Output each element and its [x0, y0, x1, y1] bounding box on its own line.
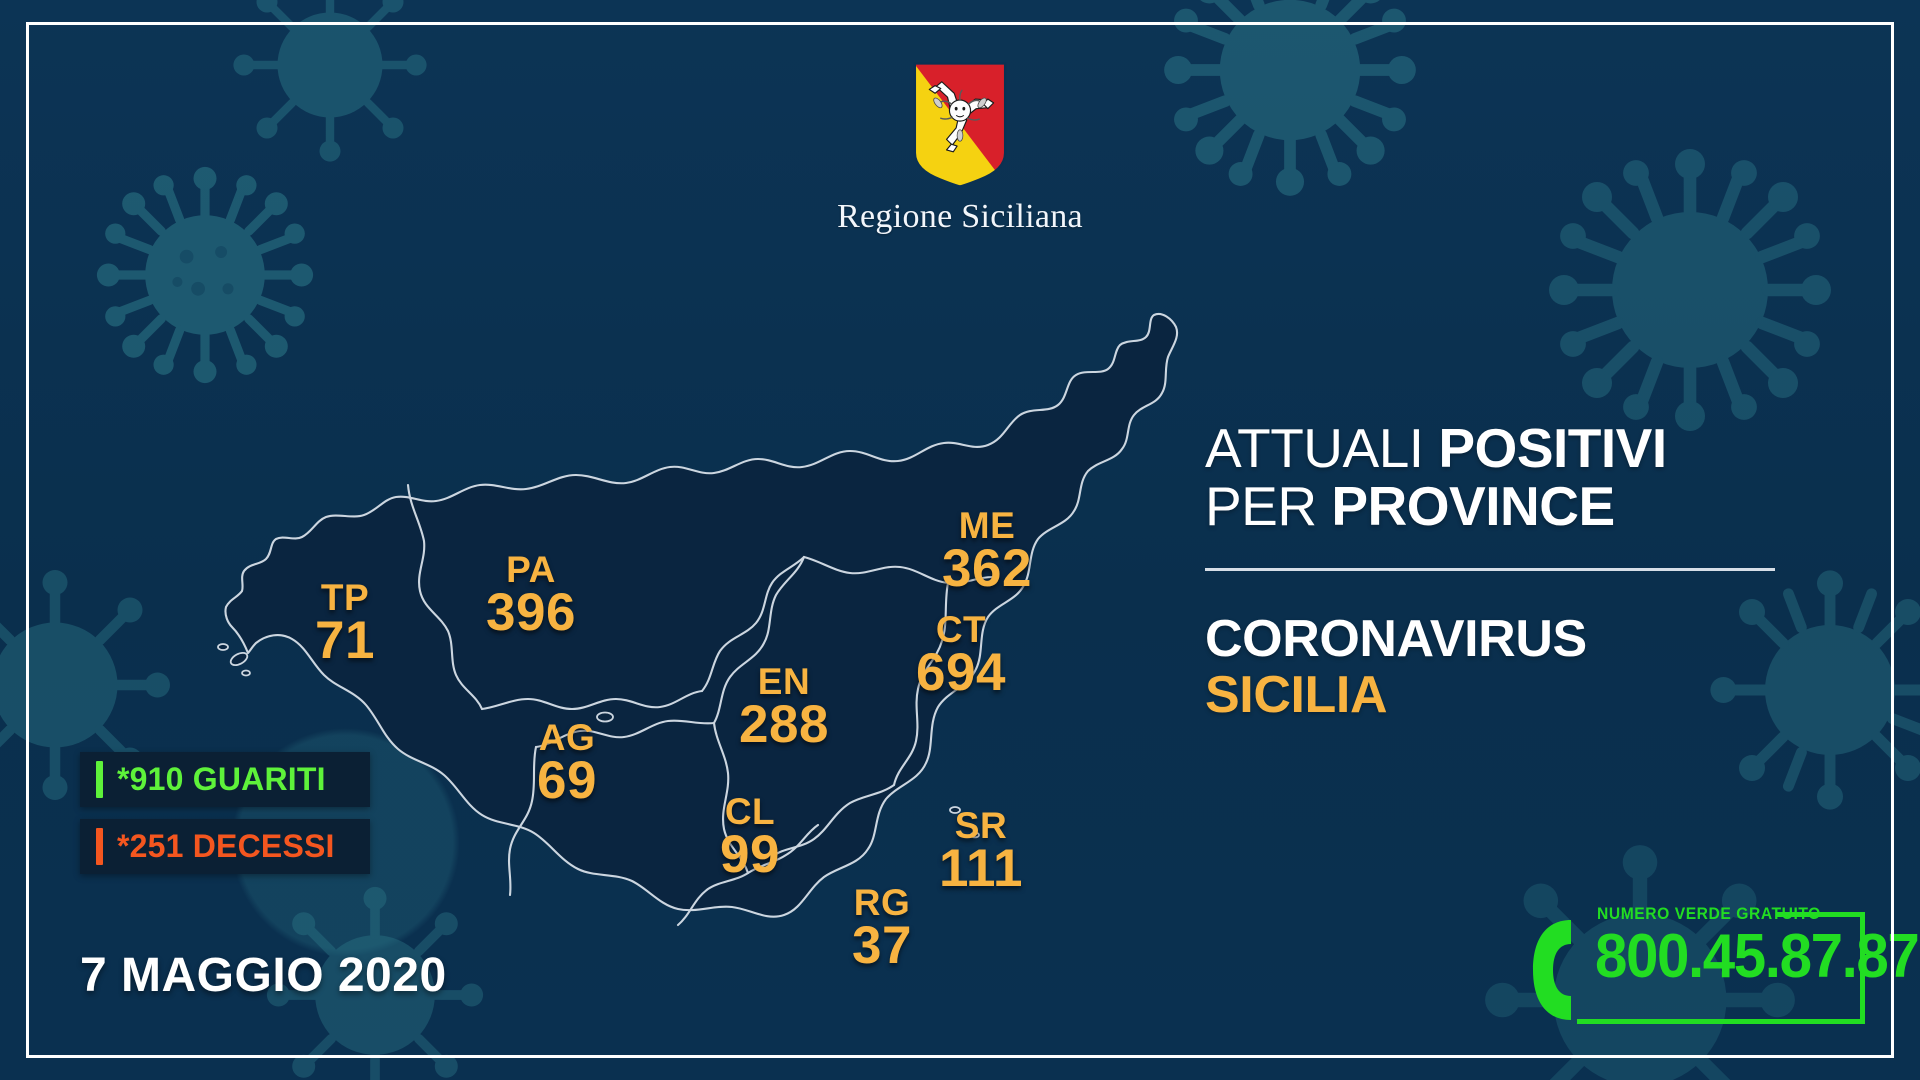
title-block: ATTUALI POSITIVI PER PROVINCE CORONAVIRU…	[1205, 420, 1775, 723]
province-label-sr: SR 111	[939, 808, 1023, 894]
poster-canvas: Regione Siciliana	[0, 0, 1920, 1080]
stat-recovered-label: *910 GUARITI	[117, 761, 326, 798]
report-date: 7 MAGGIO 2020	[80, 948, 447, 1003]
subhead-coronavirus: CORONAVIRUS	[1205, 611, 1775, 667]
province-label-rg: RG 37	[852, 885, 912, 971]
inland-lake	[597, 713, 613, 722]
stat-recovered: *910 GUARITI	[80, 752, 370, 807]
subhead-sicilia: SICILIA	[1205, 667, 1775, 723]
province-value: 99	[720, 829, 780, 880]
header-emblem-block: Regione Siciliana	[0, 60, 1920, 236]
province-value: 71	[315, 615, 375, 666]
province-label-cl: CL 99	[720, 794, 780, 880]
hotline-block: NUMERO VERDE GRATUITO 800.45.87.87	[1525, 904, 1865, 1028]
stat-deaths-label: *251 DECESSI	[117, 828, 335, 865]
province-value: 396	[486, 587, 576, 638]
province-label-ag: AG 69	[537, 720, 597, 806]
headline-line-2: PER PROVINCE	[1205, 478, 1775, 536]
hotline-label: NUMERO VERDE GRATUITO	[1597, 904, 1821, 924]
title-divider	[1205, 568, 1775, 571]
headline-light-2: PER	[1205, 475, 1331, 537]
province-label-en: EN 288	[739, 664, 829, 750]
province-label-tp: TP 71	[315, 580, 375, 666]
province-value: 69	[537, 755, 597, 806]
phone-handset-icon	[1525, 918, 1581, 1022]
stats-group: *910 GUARITI *251 DECESSI	[80, 752, 370, 886]
stat-accent-bar-deaths	[96, 828, 103, 865]
province-value: 694	[916, 647, 1006, 698]
headline-line-1: ATTUALI POSITIVI	[1205, 420, 1775, 478]
province-label-ct: CT 694	[916, 612, 1006, 698]
headline-bold-1: POSITIVI	[1438, 417, 1666, 479]
province-label-pa: PA 396	[486, 552, 576, 638]
sicily-trinacria-crest-icon	[912, 60, 1008, 188]
hotline-number[interactable]: 800.45.87.87	[1595, 926, 1918, 988]
regione-siciliana-caption: Regione Siciliana	[837, 198, 1083, 236]
province-value: 362	[942, 543, 1032, 594]
province-value: 37	[852, 920, 912, 971]
headline-light-1: ATTUALI	[1205, 417, 1438, 479]
stat-accent-bar-recovered	[96, 761, 103, 798]
province-value: 111	[939, 843, 1023, 894]
province-value: 288	[739, 699, 829, 750]
headline-bold-2: PROVINCE	[1331, 475, 1614, 537]
stat-deaths: *251 DECESSI	[80, 819, 370, 874]
province-label-me: ME 362	[942, 508, 1032, 594]
